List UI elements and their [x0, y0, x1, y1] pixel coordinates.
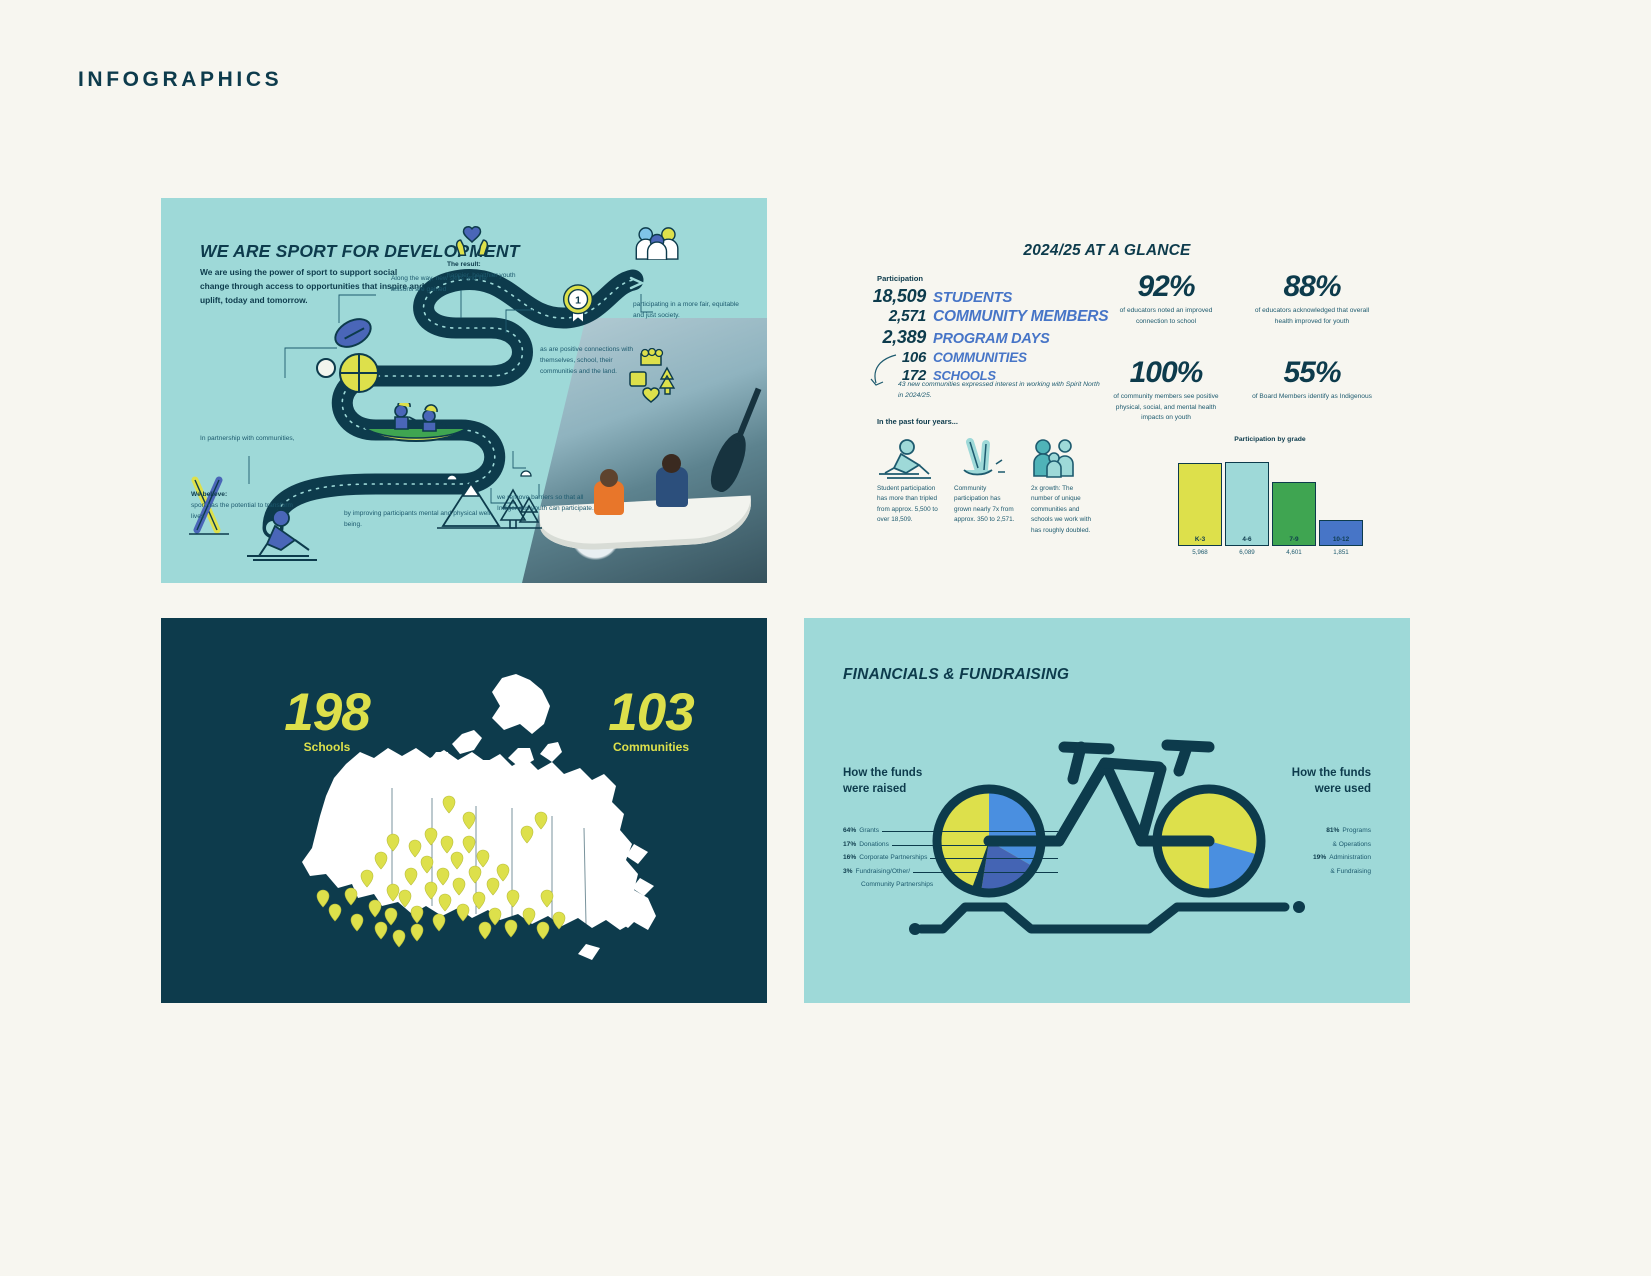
panel-title-glance: 2024/25 AT A GLANCE: [804, 242, 1410, 260]
bar-7-9: 7-9 4,601: [1272, 482, 1316, 546]
bar-category-label: K-3: [1195, 536, 1205, 545]
percent-caption: of community members see positive physic…: [1104, 392, 1228, 424]
note-result: The result: happier, healthier youth: [447, 260, 557, 282]
legend-pct: 64%: [843, 828, 856, 835]
legend-row: 81% Programs: [1201, 825, 1371, 839]
svg-text:1: 1: [575, 295, 581, 307]
stat-label: COMMUNITIES: [933, 350, 1027, 365]
chart-title: Participation by grade: [1170, 436, 1370, 443]
note-connections: as are positive connections with themsel…: [540, 345, 644, 378]
people-group-icon: [633, 226, 683, 260]
stat-label: COMMUNITY MEMBERS: [933, 308, 1108, 326]
bar-value-label: 1,851: [1320, 549, 1362, 556]
percent-stat-55: 55% of Board Members identify as Indigen…: [1250, 358, 1374, 403]
glance-note: 43 new communities expressed interest in…: [898, 380, 1103, 401]
bar-value-label: 6,089: [1226, 549, 1268, 556]
legend-row: 3% Fundraising/Other/: [843, 866, 1058, 880]
canoe-icon: [361, 403, 471, 451]
legend-label: Donations: [859, 842, 889, 849]
chart-bars: K-3 5,968 4-6 6,089 7-9 4,601 10-12 1,85…: [1178, 456, 1363, 546]
panel-title-financials: FINANCIALS & FUNDRAISING: [843, 666, 1069, 684]
legend-row: & Operations: [1201, 839, 1371, 853]
percent-stat-92: 92% of educators noted an improved conne…: [1104, 272, 1228, 327]
legend-pct: 19%: [1313, 855, 1326, 862]
stat-row: 2,389 PROGRAM DAYS: [854, 327, 1134, 348]
percent-caption: of educators acknowledged that overall h…: [1250, 306, 1374, 327]
percent-value: 100%: [1104, 358, 1228, 388]
legend-pct: 3%: [843, 869, 853, 876]
note-wellbeing: by improving participants mental and phy…: [344, 509, 494, 531]
stat-row: 18,509 STUDENTS: [854, 286, 1134, 307]
percent-caption: of Board Members identify as Indigenous: [1250, 392, 1374, 403]
percent-value: 92%: [1104, 272, 1228, 302]
growth-column-students: Student participation has more than trip…: [877, 438, 939, 526]
page-title: INFOGRAPHICS: [78, 68, 282, 92]
legend-row: & Fundraising: [1201, 866, 1371, 880]
bar-category-label: 7-9: [1289, 536, 1298, 545]
legend-row: 19% Administration: [1201, 852, 1371, 866]
legend-row: 17% Donations: [843, 839, 1058, 853]
note-partnership: In partnership with communities,: [200, 434, 296, 445]
infographic-card-at-a-glance[interactable]: 2024/25 AT A GLANCE Participation 18,509…: [804, 198, 1410, 583]
stat-number: 18,509: [854, 286, 926, 307]
percent-value: 55%: [1250, 358, 1374, 388]
growth-column-community: Community participation has grown nearly…: [954, 438, 1016, 526]
legend-label: & Operations: [1333, 842, 1371, 849]
legend-leader-line: [913, 872, 1058, 873]
skis-icon: [954, 438, 1006, 480]
stat-label: PROGRAM DAYS: [933, 331, 1050, 347]
legend-label: Fundraising/Other/: [856, 869, 911, 876]
legend-label: Community Partnerships: [861, 882, 933, 889]
infographic-card-financials[interactable]: FINANCIALS & FUNDRAISING How the funds w…: [804, 618, 1410, 1003]
growth-text: Student participation has more than trip…: [877, 484, 939, 526]
legend-row: Community Partnerships: [843, 879, 1058, 893]
bar-value-label: 5,968: [1179, 549, 1221, 556]
hands-heart-icon: [453, 225, 491, 259]
legend-label: Programs: [1342, 828, 1371, 835]
legend-pct: 16%: [843, 855, 856, 862]
bar-k-3: K-3 5,968: [1178, 463, 1222, 546]
stat-label: STUDENTS: [933, 289, 1012, 306]
percent-caption: of educators noted an improved connectio…: [1104, 306, 1228, 327]
legend-leader-line: [892, 845, 1058, 846]
stat-number: 2,389: [854, 327, 926, 348]
growth-column-communities: 2x growth: The number of unique communit…: [1031, 438, 1093, 536]
infographic-card-sport-for-development[interactable]: WE ARE SPORT FOR DEVELOPMENT We are usin…: [161, 198, 767, 583]
legend-pct: 17%: [843, 842, 856, 849]
participation-by-grade-chart: Participation by grade K-3 5,968 4-6 6,0…: [1170, 436, 1370, 546]
note-society: participating in a more fair, equitable …: [633, 300, 743, 322]
growth-text: 2x growth: The number of unique communit…: [1031, 484, 1093, 536]
map-location-pins: [291, 778, 631, 978]
legend-row: 16% Corporate Partnerships: [843, 852, 1058, 866]
note-we-believe: We believe: sport has the potential to t…: [191, 490, 295, 523]
percent-stat-88: 88% of educators acknowledged that overa…: [1250, 272, 1374, 327]
bar-value-label: 4,601: [1273, 549, 1315, 556]
percent-value: 88%: [1250, 272, 1374, 302]
percent-stat-100: 100% of community members see positive p…: [1104, 358, 1228, 424]
legend-label: Corporate Partnerships: [859, 855, 927, 862]
medal-ribbon-icon: 1: [561, 283, 595, 325]
stat-row: 2,571 COMMUNITY MEMBERS: [854, 308, 1134, 326]
bar-category-label: 4-6: [1242, 536, 1251, 545]
stat-number: 2,571: [854, 308, 926, 326]
people-icon: [1031, 438, 1083, 480]
legend-row: 64% Grants: [843, 825, 1058, 839]
legend-label: Administration: [1329, 855, 1371, 862]
legend-label: & Fundraising: [1330, 869, 1371, 876]
legend-label: Grants: [859, 828, 879, 835]
tennis-ball-icon: [316, 358, 336, 378]
note-barriers: we remove barriers so that all Indigenou…: [497, 493, 609, 515]
skier-icon: [877, 438, 935, 480]
bar-category-label: 10-12: [1333, 536, 1349, 545]
basketball-icon: [339, 353, 379, 393]
growth-text: Community participation has grown nearly…: [954, 484, 1016, 526]
past-four-years-label: In the past four years...: [877, 417, 958, 426]
funds-used-legend: 81% Programs & Operations 19% Administra…: [1201, 825, 1371, 879]
legend-leader-line: [930, 858, 1058, 859]
funds-raised-legend: 64% Grants 17% Donations 16% Corporate P…: [843, 825, 1058, 893]
bar-10-12: 10-12 1,851: [1319, 520, 1363, 546]
participation-label: Participation: [877, 274, 923, 283]
legend-leader-line: [882, 831, 1058, 832]
infographic-card-map[interactable]: 198 Schools 103 Communities: [161, 618, 767, 1003]
legend-pct: 81%: [1326, 828, 1339, 835]
bar-4-6: 4-6 6,089: [1225, 462, 1269, 546]
